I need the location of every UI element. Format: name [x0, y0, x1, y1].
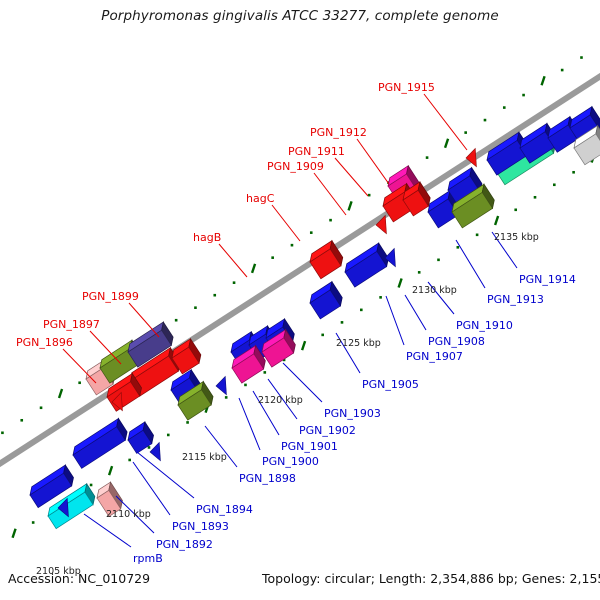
tick-label-2120 kbp: 2120 kbp — [258, 395, 303, 406]
tick-label-2135 kbp: 2135 kbp — [494, 232, 539, 243]
gene-label-pgn_1901[interactable]: PGN_1901 — [281, 441, 338, 452]
gene-label-pgn_1899[interactable]: PGN_1899 — [82, 291, 139, 302]
gene-blue-8[interactable] — [307, 282, 346, 319]
gene-label-pgn_1896[interactable]: PGN_1896 — [16, 337, 73, 348]
gene-label-pgn_1894[interactable]: PGN_1894 — [196, 504, 253, 515]
gene-label-pgn_1897[interactable]: PGN_1897 — [43, 319, 100, 330]
leader-line-pgn_1913 — [456, 240, 485, 288]
gene-label-rpmb[interactable]: rpmB — [133, 553, 163, 564]
tick-label-2130 kbp: 2130 kbp — [412, 285, 457, 296]
gene-blue-3[interactable] — [125, 422, 157, 454]
gene-label-hagb[interactable]: hagB — [193, 232, 221, 243]
arrow-blue-a-icon[interactable] — [148, 442, 168, 462]
gene-label-pgn_1908[interactable]: PGN_1908 — [428, 336, 485, 347]
gene-label-hagc[interactable]: hagC — [246, 193, 274, 204]
gene-label-pgn_1914[interactable]: PGN_1914 — [519, 274, 576, 285]
gene-label-pgn_1910[interactable]: PGN_1910 — [456, 320, 513, 331]
leader-line-pgn_1908 — [405, 295, 426, 330]
leader-line-pgn_1911 — [335, 158, 368, 196]
leader-line-pgn_1912 — [357, 139, 389, 184]
leader-line-pgn_1899 — [129, 303, 159, 337]
gene-label-pgn_1912[interactable]: PGN_1912 — [310, 127, 367, 138]
gene-label-pgn_1909[interactable]: PGN_1909 — [267, 161, 324, 172]
gene-label-pgn_1911[interactable]: PGN_1911 — [288, 146, 345, 157]
gene-label-pgn_1913[interactable]: PGN_1913 — [487, 294, 544, 305]
gene-label-pgn_1898[interactable]: PGN_1898 — [239, 473, 296, 484]
leader-line-pgn_1900 — [239, 398, 260, 450]
gene-label-pgn_1903[interactable]: PGN_1903 — [324, 408, 381, 419]
accession-text: Accession: NC_010729 — [8, 571, 150, 586]
leader-line-pgn_1907 — [386, 296, 404, 345]
leader-line-pgn_1893 — [133, 462, 170, 515]
gene-label-pgn_1892[interactable]: PGN_1892 — [156, 539, 213, 550]
gene-label-pgn_1905[interactable]: PGN_1905 — [362, 379, 419, 390]
leader-line-hagc — [272, 205, 300, 241]
gene-label-pgn_1907[interactable]: PGN_1907 — [406, 351, 463, 362]
tick-label-2125 kbp: 2125 kbp — [336, 338, 381, 349]
tick-label-2110 kbp: 2110 kbp — [106, 509, 151, 520]
gene-blue-9[interactable] — [342, 243, 392, 287]
leader-line-pgn_1915 — [424, 94, 467, 150]
genome-viewer: Porphyromonas gingivalis ATCC 33277, com… — [0, 0, 600, 600]
arrow-blue-d-icon[interactable] — [214, 376, 234, 396]
leader-line-pgn_1896 — [63, 349, 96, 383]
leader-line-pgn_1909 — [314, 173, 346, 215]
gene-blue-2[interactable] — [70, 418, 131, 468]
gene-label-pgn_1902[interactable]: PGN_1902 — [299, 425, 356, 436]
genome-backbone — [0, 70, 600, 470]
topology-text: Topology: circular; Length: 2,354,886 bp… — [262, 571, 600, 586]
gene-label-pgn_1893[interactable]: PGN_1893 — [172, 521, 229, 532]
gene-label-pgn_1900[interactable]: PGN_1900 — [262, 456, 319, 467]
leader-line-hagb — [219, 244, 247, 277]
gene-label-pgn_1915[interactable]: PGN_1915 — [378, 82, 435, 93]
status-bar: Accession: NC_010729 Topology: circular;… — [0, 566, 600, 600]
tick-label-2115 kbp: 2115 kbp — [182, 452, 227, 463]
